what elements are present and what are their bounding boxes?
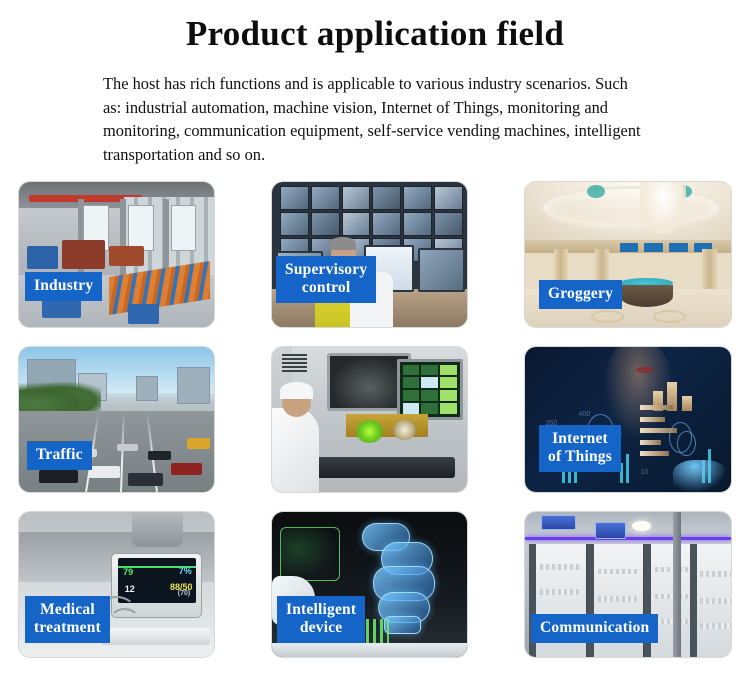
vital-nibp-mean: (70) [178,590,190,597]
application-card-industry[interactable]: Industry [18,181,215,328]
application-card-grid: Industry Supervisory control [18,181,732,658]
application-card-internet-of-things[interactable]: 350 400 % 600 10 Internet of Things [524,346,732,493]
machine-vision-photo [272,347,467,492]
inspection-readout-panel [397,359,464,420]
vital-resp-rate: 12 [125,584,135,594]
application-card-intelligent-device[interactable]: Intelligent device [271,511,468,658]
supervisory-control-photo [272,182,467,327]
card-label-supervisory-control: Supervisory control [276,256,376,303]
traffic-highway-photo [19,347,214,492]
card-label-internet-of-things: Internet of Things [539,425,621,472]
application-card-machine-vision[interactable] [271,346,468,493]
card-label-medical-treatment: Medical treatment [25,596,110,643]
card-label-traffic: Traffic [27,441,92,470]
industry-photo [19,182,214,327]
page-title: Product application field [0,14,750,54]
card-label-industry: Industry [25,272,102,301]
application-card-communication[interactable]: Communication [524,511,732,658]
card-label-groggery: Groggery [539,280,622,309]
vital-spo2: 7% [179,566,192,576]
vital-heart-rate: 79 [123,567,133,577]
application-card-supervisory-control[interactable]: Supervisory control [271,181,468,328]
card-label-communication: Communication [531,614,658,643]
patient-monitor-screen: 79 7% 12 88/50 (70) [118,558,196,603]
product-application-page: Product application field The host has r… [0,0,750,680]
application-card-medical-treatment[interactable]: 79 7% 12 88/50 (70) Medical treatment [18,511,215,658]
application-card-groggery[interactable]: Groggery [524,181,732,328]
application-card-traffic[interactable]: Traffic [18,346,215,493]
intro-paragraph: The host has rich functions and is appli… [103,72,648,166]
card-label-intelligent-device: Intelligent device [277,596,365,643]
